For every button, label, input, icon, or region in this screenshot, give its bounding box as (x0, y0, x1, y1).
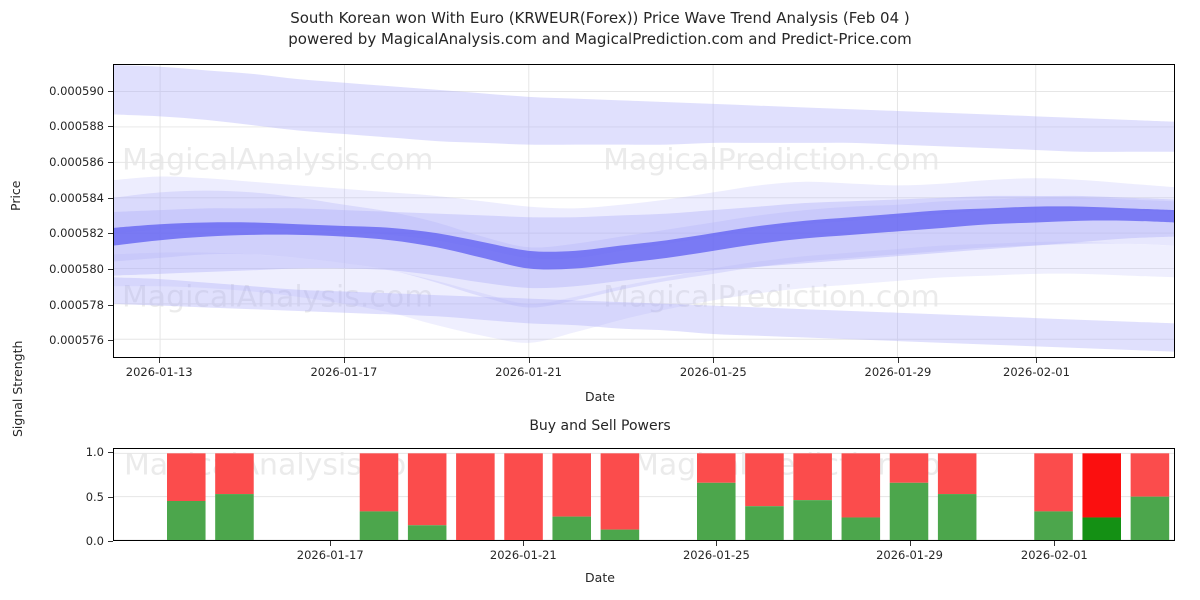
price-y-tick (108, 91, 113, 92)
price-y-tick (108, 340, 113, 341)
signal-y-tick (108, 497, 113, 498)
signal-bar[interactable] (1034, 453, 1073, 540)
signal-x-tick (523, 541, 524, 546)
price-y-tick-label: 0.000588 (0, 119, 104, 133)
signal-x-tick (330, 541, 331, 546)
price-y-tick-label: 0.000582 (0, 226, 104, 240)
sell-power-segment (504, 453, 543, 540)
sell-power-segment (360, 453, 399, 511)
buy-power-segment (1131, 497, 1170, 540)
signal-bar[interactable] (601, 453, 640, 540)
sell-power-segment (408, 453, 447, 525)
buy-power-segment (890, 483, 929, 540)
buy-power-segment (408, 525, 447, 540)
price-x-tick (344, 358, 345, 363)
signal-bar[interactable] (1082, 453, 1121, 540)
price-y-tick (108, 126, 113, 127)
price-y-tick-label: 0.000580 (0, 262, 104, 276)
signal-y-axis-title: Signal Strength (10, 341, 25, 437)
signal-y-tick-label: 0.0 (0, 534, 104, 548)
price-y-tick (108, 198, 113, 199)
signal-bar[interactable] (504, 453, 543, 540)
buy-power-segment (601, 530, 640, 540)
signal-bar[interactable] (408, 453, 447, 540)
price-x-tick (529, 358, 530, 363)
price-y-tick-label: 0.000590 (0, 84, 104, 98)
buy-power-segment (1082, 517, 1121, 540)
signal-bar[interactable] (1131, 453, 1170, 540)
sell-power-segment (745, 453, 784, 506)
sell-power-segment (842, 453, 881, 517)
sell-power-segment (601, 453, 640, 529)
price-x-tick-label: 2026-02-01 (1003, 365, 1070, 379)
signal-bar[interactable] (745, 453, 784, 540)
price-y-axis-title: Price (8, 181, 23, 212)
price-x-tick-label: 2026-01-21 (495, 365, 562, 379)
chart-page: South Korean won With Euro (KRWEUR(Forex… (0, 0, 1200, 600)
signal-bar[interactable] (793, 453, 832, 540)
signal-chart-title: Buy and Sell Powers (0, 418, 1200, 434)
buy-power-segment (938, 494, 977, 540)
price-x-axis-title: Date (0, 389, 1200, 404)
price-x-tick-label: 2026-01-25 (680, 365, 747, 379)
sell-power-segment (938, 453, 977, 494)
signal-bar[interactable] (360, 453, 399, 540)
signal-bar[interactable] (167, 453, 206, 540)
buy-power-segment (360, 511, 399, 540)
signal-x-tick (910, 541, 911, 546)
price-y-tick (108, 305, 113, 306)
signal-x-tick-label: 2026-02-01 (1021, 548, 1088, 562)
buy-power-segment (745, 506, 784, 540)
signal-x-tick-label: 2026-01-17 (297, 548, 364, 562)
sell-power-segment (167, 453, 206, 501)
signal-y-tick-label: 0.5 (0, 490, 104, 504)
signal-y-tick (108, 541, 113, 542)
signal-y-tick-label: 1.0 (0, 445, 104, 459)
buy-power-segment (697, 483, 736, 540)
sell-power-segment (552, 453, 591, 516)
signal-bar[interactable] (552, 453, 591, 540)
sell-power-segment (890, 453, 929, 482)
price-x-tick (1036, 358, 1037, 363)
buy-power-segment (1034, 511, 1073, 540)
price-y-tick-label: 0.000578 (0, 298, 104, 312)
signal-y-tick (108, 452, 113, 453)
buy-power-segment (167, 501, 206, 540)
buy-sell-powers-chart: MagicalAnalysis.comMagicalPrediction.com (113, 448, 1175, 541)
sell-power-segment (793, 453, 832, 500)
signal-x-tick (1054, 541, 1055, 546)
signal-bar[interactable] (456, 453, 495, 540)
price-x-tick (159, 358, 160, 363)
price-y-tick (108, 162, 113, 163)
sell-power-segment (215, 453, 254, 494)
buy-sell-powers-svg: MagicalAnalysis.comMagicalPrediction.com (114, 449, 1174, 540)
sell-power-segment (1034, 453, 1073, 511)
price-x-tick (713, 358, 714, 363)
sell-power-segment (456, 453, 495, 540)
signal-bar[interactable] (215, 453, 254, 540)
buy-power-segment (793, 500, 832, 540)
sell-power-segment (697, 453, 736, 482)
signal-bar[interactable] (890, 453, 929, 540)
signal-x-axis-title: Date (0, 570, 1200, 585)
price-y-tick (108, 269, 113, 270)
sell-power-segment (1082, 453, 1121, 517)
signal-x-tick-label: 2026-01-25 (683, 548, 750, 562)
price-x-tick-label: 2026-01-13 (126, 365, 193, 379)
signal-bar[interactable] (842, 453, 881, 540)
buy-power-segment (215, 494, 254, 540)
signal-bar[interactable] (938, 453, 977, 540)
price-y-tick-label: 0.000586 (0, 155, 104, 169)
price-x-tick-label: 2026-01-17 (310, 365, 377, 379)
price-x-tick (898, 358, 899, 363)
signal-x-tick-label: 2026-01-29 (876, 548, 943, 562)
price-x-tick-label: 2026-01-29 (865, 365, 932, 379)
price-y-tick (108, 233, 113, 234)
sell-power-segment (1131, 453, 1170, 496)
buy-power-segment (842, 517, 881, 540)
signal-bar[interactable] (697, 453, 736, 540)
signal-x-tick (716, 541, 717, 546)
buy-power-segment (552, 517, 591, 540)
signal-x-tick-label: 2026-01-21 (490, 548, 557, 562)
